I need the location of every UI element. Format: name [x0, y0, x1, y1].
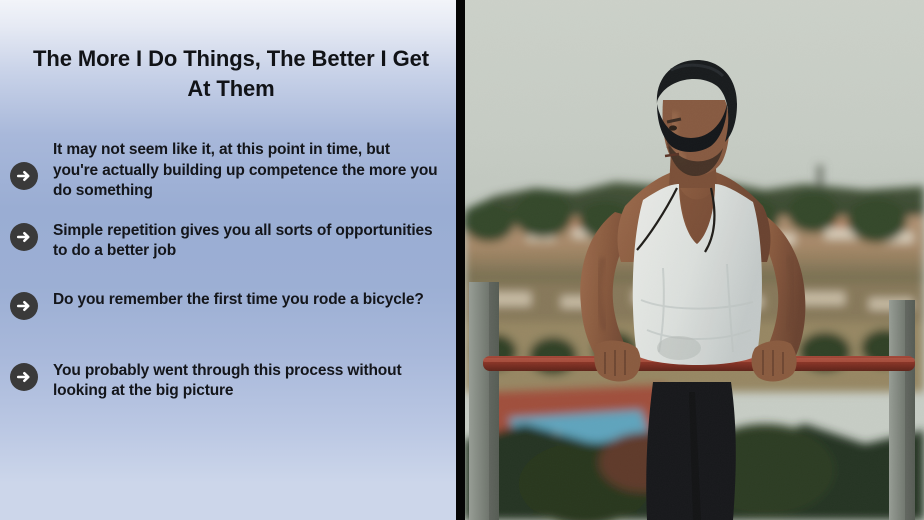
slide-title: The More I Do Things, The Better I Get A… — [33, 44, 429, 104]
bullet-text: Do you remember the first time you rode … — [53, 290, 456, 311]
bullet-text: Simple repetition gives you all sorts of… — [53, 221, 456, 262]
arrow-right-circle-icon — [10, 223, 38, 251]
text-panel: The More I Do Things, The Better I Get A… — [0, 0, 456, 520]
bullet-item: Do you remember the first time you rode … — [0, 290, 456, 320]
slide: The More I Do Things, The Better I Get A… — [0, 0, 924, 520]
panel-divider — [456, 0, 465, 520]
photo-athlete-on-pullup-bar — [465, 0, 924, 520]
bullet-text: You probably went through this process w… — [53, 361, 456, 402]
bullet-text: It may not seem like it, at this point i… — [53, 140, 456, 202]
bullet-list: It may not seem like it, at this point i… — [0, 140, 456, 402]
bullet-item: Simple repetition gives you all sorts of… — [0, 221, 456, 262]
arrow-right-circle-icon — [10, 292, 38, 320]
arrow-right-circle-icon — [10, 162, 38, 190]
bullet-item: You probably went through this process w… — [0, 361, 456, 402]
photo-illustration — [465, 0, 924, 520]
arrow-right-circle-icon — [10, 363, 38, 391]
bullet-item: It may not seem like it, at this point i… — [0, 140, 456, 202]
